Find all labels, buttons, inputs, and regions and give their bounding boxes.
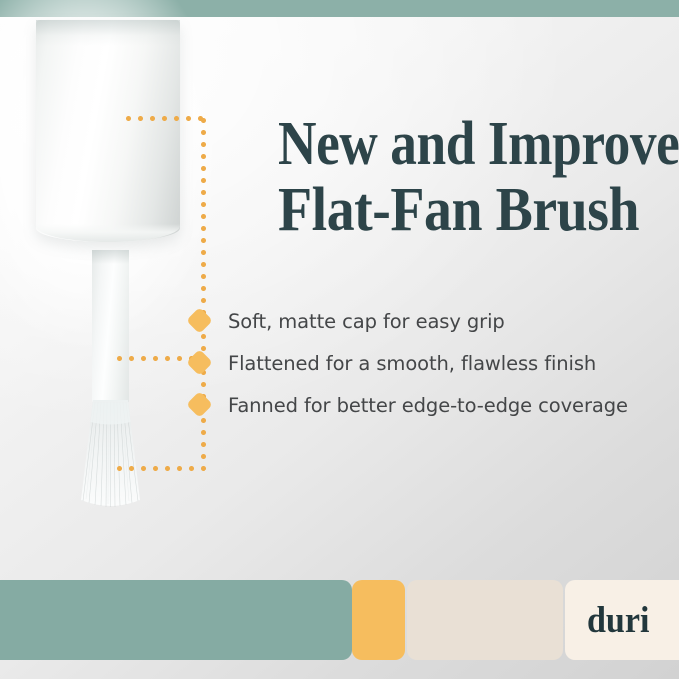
diamond-bullet-icon <box>188 393 212 417</box>
headline: New and Improved Flat-Fan Brush <box>278 112 668 242</box>
nail-polish-cap <box>36 20 180 242</box>
diamond-bullet-icon <box>188 309 212 333</box>
dotted-branch-to-cap <box>126 116 204 121</box>
brush-stem-shadow <box>92 250 129 264</box>
footer-segment-teal <box>0 580 352 660</box>
dotted-branch-to-bristles <box>117 466 205 471</box>
list-item: Soft, matte cap for easy grip <box>188 300 658 342</box>
dotted-branch-to-stem <box>117 356 195 361</box>
brand-logo-panel: duri <box>565 580 679 660</box>
diamond-bullet-icon <box>188 351 212 375</box>
footer-segment-amber <box>352 580 405 660</box>
brand-logo-text: duri <box>587 602 649 639</box>
feature-label: Fanned for better edge-to-edge coverage <box>228 394 628 417</box>
product-photo <box>0 17 230 562</box>
brush-stem <box>92 250 129 402</box>
headline-line-1: New and Improved <box>278 112 613 176</box>
feature-list: Soft, matte cap for easy grip Flattened … <box>188 300 658 426</box>
footer-color-bar: duri <box>0 580 679 660</box>
flat-fan-bristles-icon <box>74 400 147 510</box>
footer-segment-beige <box>407 580 563 660</box>
list-item: Flattened for a smooth, flawless finish <box>188 342 658 384</box>
infographic-canvas: New and Improved Flat-Fan Brush Soft, ma… <box>0 0 679 679</box>
headline-line-2: Flat-Fan Brush <box>278 178 629 242</box>
cap-top-shading <box>36 20 180 46</box>
feature-label: Flattened for a smooth, flawless finish <box>228 352 596 375</box>
feature-label: Soft, matte cap for easy grip <box>228 310 505 333</box>
list-item: Fanned for better edge-to-edge coverage <box>188 384 658 426</box>
